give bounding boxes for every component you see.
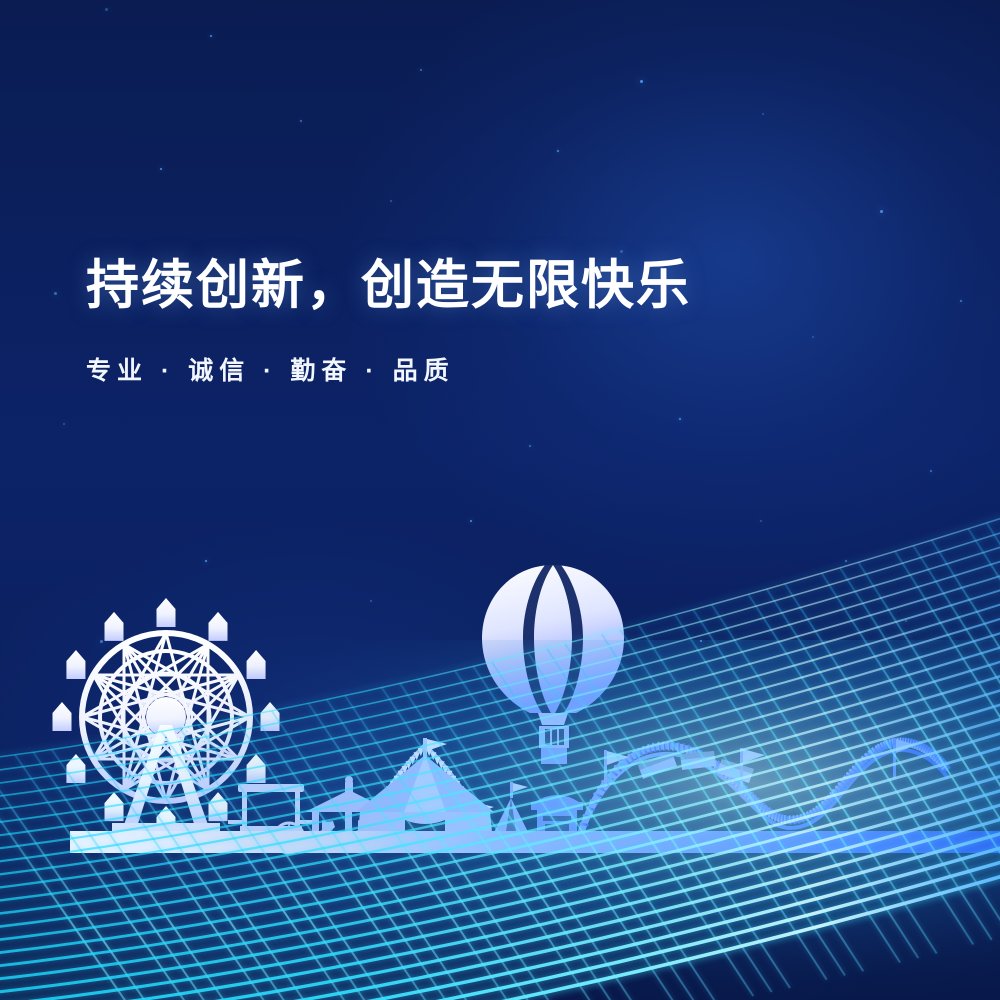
star-dot — [420, 69, 422, 71]
star-dot — [300, 120, 302, 122]
star-dot — [960, 300, 962, 302]
star-dot — [620, 250, 623, 253]
star-dot — [54, 292, 57, 295]
ferris-gondola — [209, 612, 228, 641]
star-dot — [679, 418, 681, 420]
star-dot — [762, 113, 764, 115]
glowing-wave-mesh — [0, 640, 1000, 1000]
star-dot — [557, 150, 559, 152]
poster-canvas: 持续创新，创造无限快乐 专业 · 诚信 · 勤奋 · 品质 — [0, 0, 1000, 1000]
page-subtitle: 专业 · 诚信 · 勤奋 · 品质 — [86, 351, 691, 387]
star-dot — [105, 8, 108, 11]
star-dot — [529, 445, 531, 447]
page-title: 持续创新，创造无限快乐 — [86, 256, 691, 317]
ferris-gondola — [157, 598, 176, 627]
star-dot — [63, 423, 65, 425]
star-dot — [880, 210, 883, 213]
ferris-gondola — [105, 612, 124, 641]
star-dot — [390, 200, 392, 202]
star-dot — [930, 470, 932, 472]
star-dot — [812, 336, 814, 338]
star-dot — [640, 80, 643, 83]
star-dot — [210, 35, 212, 37]
headline-block: 持续创新，创造无限快乐 专业 · 诚信 · 勤奋 · 品质 — [86, 256, 691, 387]
star-dot — [160, 168, 162, 170]
